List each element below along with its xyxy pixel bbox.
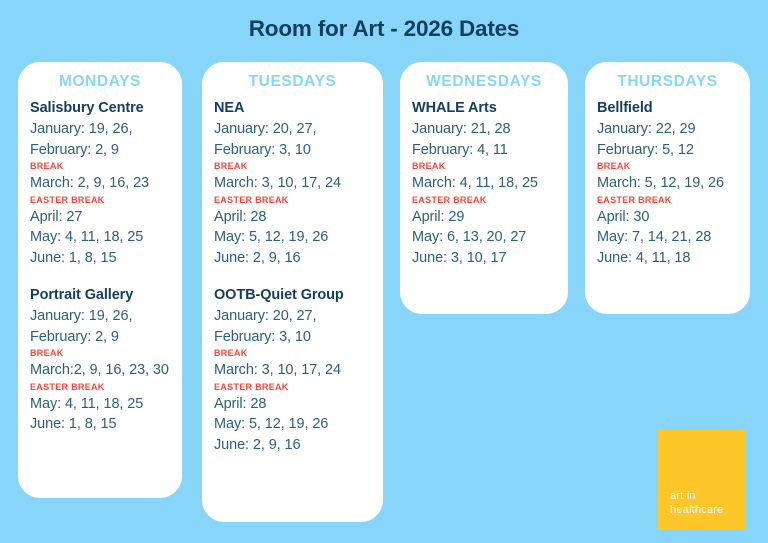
venue-name: Salisbury Centre	[30, 100, 172, 116]
schedule-board: MONDAYSSalisbury CentreJanuary: 19, 26,F…	[18, 62, 750, 532]
session-date-line: January: 22, 29	[597, 119, 740, 140]
break-notice: BREAK	[30, 347, 172, 360]
session-date-line: January: 19, 26,	[30, 306, 172, 327]
venue-block: OOTB-Quiet GroupJanuary: 20, 27,February…	[202, 287, 383, 455]
session-date-line: April: 27	[30, 207, 172, 228]
break-notice: EASTER BREAK	[214, 194, 373, 207]
session-date-line: June: 1, 8, 15	[30, 248, 172, 269]
session-date-line: June: 4, 11, 18	[597, 248, 740, 269]
venue-block: WHALE ArtsJanuary: 21, 28February: 4, 11…	[400, 100, 568, 268]
session-date-line: February: 2, 9	[30, 140, 172, 161]
session-date-line: February: 4, 11	[412, 140, 558, 161]
session-date-line: May: 5, 12, 19, 26	[214, 227, 373, 248]
logo-line-1: art in	[670, 490, 723, 504]
session-date-line: March: 3, 10, 17, 24	[214, 173, 373, 194]
page-title: Room for Art - 2026 Dates	[0, 16, 768, 42]
art-in-healthcare-logo: art in healthcare	[657, 430, 746, 529]
venue-block: Portrait GalleryJanuary: 19, 26,February…	[18, 287, 182, 435]
break-notice: BREAK	[214, 347, 373, 360]
logo-text: art in healthcare	[670, 490, 723, 517]
break-notice: EASTER BREAK	[597, 194, 740, 207]
venue-name: Bellfield	[597, 100, 740, 116]
session-date-line: April: 29	[412, 207, 558, 228]
venue-block: BellfieldJanuary: 22, 29February: 5, 12B…	[585, 100, 750, 268]
day-header-mondays: MONDAYS	[18, 73, 182, 91]
break-notice: BREAK	[214, 160, 373, 173]
venue-name: NEA	[214, 100, 373, 116]
logo-line-2: healthcare	[670, 504, 723, 518]
venue-name: OOTB-Quiet Group	[214, 287, 373, 303]
venue-name: WHALE Arts	[412, 100, 558, 116]
session-date-line: January: 19, 26,	[30, 119, 172, 140]
session-date-line: March: 4, 11, 18, 25	[412, 173, 558, 194]
break-notice: BREAK	[412, 160, 558, 173]
session-date-line: March: 5, 12, 19, 26	[597, 173, 740, 194]
break-notice: BREAK	[30, 160, 172, 173]
session-date-line: May: 7, 14, 21, 28	[597, 227, 740, 248]
break-notice: EASTER BREAK	[214, 381, 373, 394]
day-card-thursdays: THURSDAYSBellfieldJanuary: 22, 29Februar…	[585, 62, 750, 314]
day-card-mondays: MONDAYSSalisbury CentreJanuary: 19, 26,F…	[18, 62, 182, 498]
session-date-line: May: 4, 11, 18, 25	[30, 227, 172, 248]
break-notice: BREAK	[597, 160, 740, 173]
session-date-line: January: 21, 28	[412, 119, 558, 140]
session-date-line: June: 2, 9, 16	[214, 435, 373, 456]
session-date-line: May: 6, 13, 20, 27	[412, 227, 558, 248]
break-notice: EASTER BREAK	[30, 381, 172, 394]
session-date-line: April: 28	[214, 207, 373, 228]
session-date-line: January: 20, 27,	[214, 306, 373, 327]
session-date-line: January: 20, 27,	[214, 119, 373, 140]
day-header-thursdays: THURSDAYS	[585, 73, 750, 91]
session-date-line: March: 3, 10, 17, 24	[214, 360, 373, 381]
session-date-line: June: 2, 9, 16	[214, 248, 373, 269]
break-notice: EASTER BREAK	[412, 194, 558, 207]
session-date-line: February: 5, 12	[597, 140, 740, 161]
session-date-line: June: 1, 8, 15	[30, 414, 172, 435]
session-date-line: April: 30	[597, 207, 740, 228]
session-date-line: June: 3, 10, 17	[412, 248, 558, 269]
session-date-line: May: 4, 11, 18, 25	[30, 394, 172, 415]
venue-block: NEAJanuary: 20, 27,February: 3, 10BREAKM…	[202, 100, 383, 268]
session-date-line: February: 3, 10	[214, 327, 373, 348]
session-date-line: May: 5, 12, 19, 26	[214, 414, 373, 435]
venue-block: Salisbury CentreJanuary: 19, 26,February…	[18, 100, 182, 268]
session-date-line: April: 28	[214, 394, 373, 415]
session-date-line: February: 3, 10	[214, 140, 373, 161]
session-date-line: March:2, 9, 16, 23, 30	[30, 360, 172, 381]
break-notice: EASTER BREAK	[30, 194, 172, 207]
day-header-wednesdays: WEDNESDAYS	[400, 73, 568, 91]
session-date-line: February: 2, 9	[30, 327, 172, 348]
session-date-line: March: 2, 9, 16, 23	[30, 173, 172, 194]
venue-name: Portrait Gallery	[30, 287, 172, 303]
day-header-tuesdays: TUESDAYS	[202, 73, 383, 91]
day-card-wednesdays: WEDNESDAYSWHALE ArtsJanuary: 21, 28Febru…	[400, 62, 568, 314]
day-card-tuesdays: TUESDAYSNEAJanuary: 20, 27,February: 3, …	[202, 62, 383, 522]
